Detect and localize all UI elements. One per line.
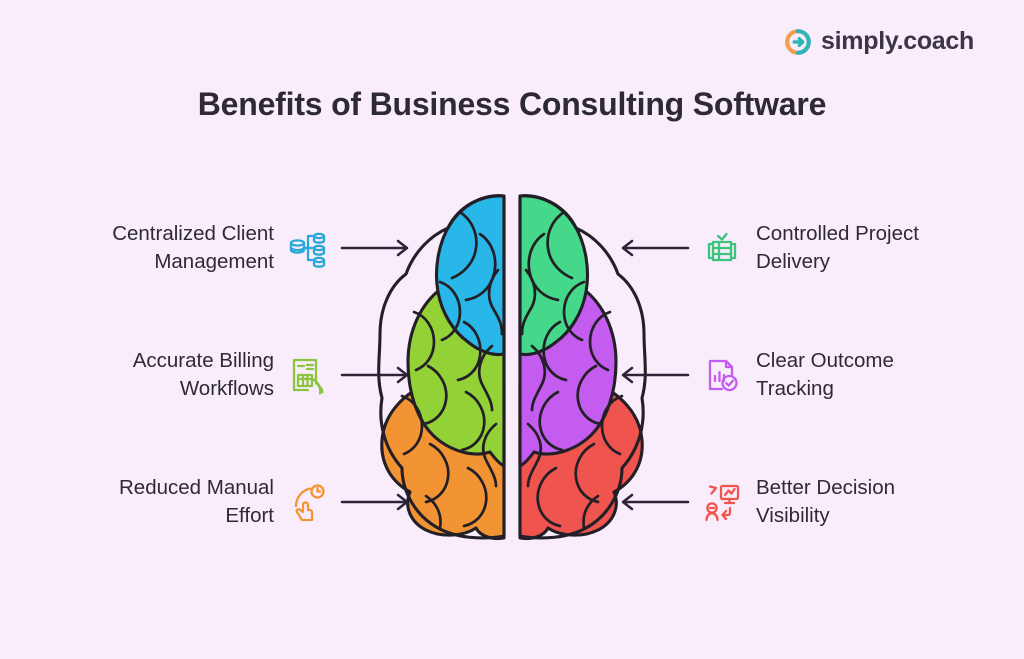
benefit-row-reduced-manual-effort: Reduced Manual Effort: [40, 471, 412, 533]
circular-arrow-logo-icon: [784, 28, 812, 56]
arrow-left-icon: [618, 237, 690, 259]
benefit-label: Clear Outcome Tracking: [756, 347, 894, 403]
arrow-right-icon: [340, 364, 412, 386]
benefit-row-better-decision-visibility: Better Decision Visibility: [618, 471, 990, 533]
page-title: Benefits of Business Consulting Software: [0, 86, 1024, 123]
benefit-label: Reduced Manual Effort: [119, 474, 274, 530]
arrow-left-icon: [618, 364, 690, 386]
person-monitor-arrows-icon: [702, 482, 742, 522]
arrow-left-icon: [618, 491, 690, 513]
brand-name: simply.coach: [821, 27, 974, 56]
benefit-label: Centralized Client Management: [112, 220, 274, 276]
benefit-row-clear-outcome-tracking: Clear Outcome Tracking: [618, 344, 990, 406]
benefit-label: Controlled Project Delivery: [756, 220, 919, 276]
benefit-row-centralized-client-management: Centralized Client Management: [40, 217, 412, 279]
benefit-row-accurate-billing-workflows: Accurate Billing Workflows: [40, 344, 412, 406]
brand-logo: simply.coach: [784, 27, 974, 56]
infographic-canvas: simply.coach Benefits of Business Consul…: [0, 0, 1024, 659]
report-chart-check-icon: [702, 355, 742, 395]
project-board-check-icon: [702, 228, 742, 268]
arrow-right-icon: [340, 237, 412, 259]
benefit-label: Accurate Billing Workflows: [133, 347, 274, 403]
benefit-label: Better Decision Visibility: [756, 474, 895, 530]
database-network-icon: [288, 228, 328, 268]
hand-clock-icon: [288, 482, 328, 522]
invoice-hand-icon: [288, 355, 328, 395]
benefit-row-controlled-project-delivery: Controlled Project Delivery: [618, 217, 990, 279]
arrow-right-icon: [340, 491, 412, 513]
